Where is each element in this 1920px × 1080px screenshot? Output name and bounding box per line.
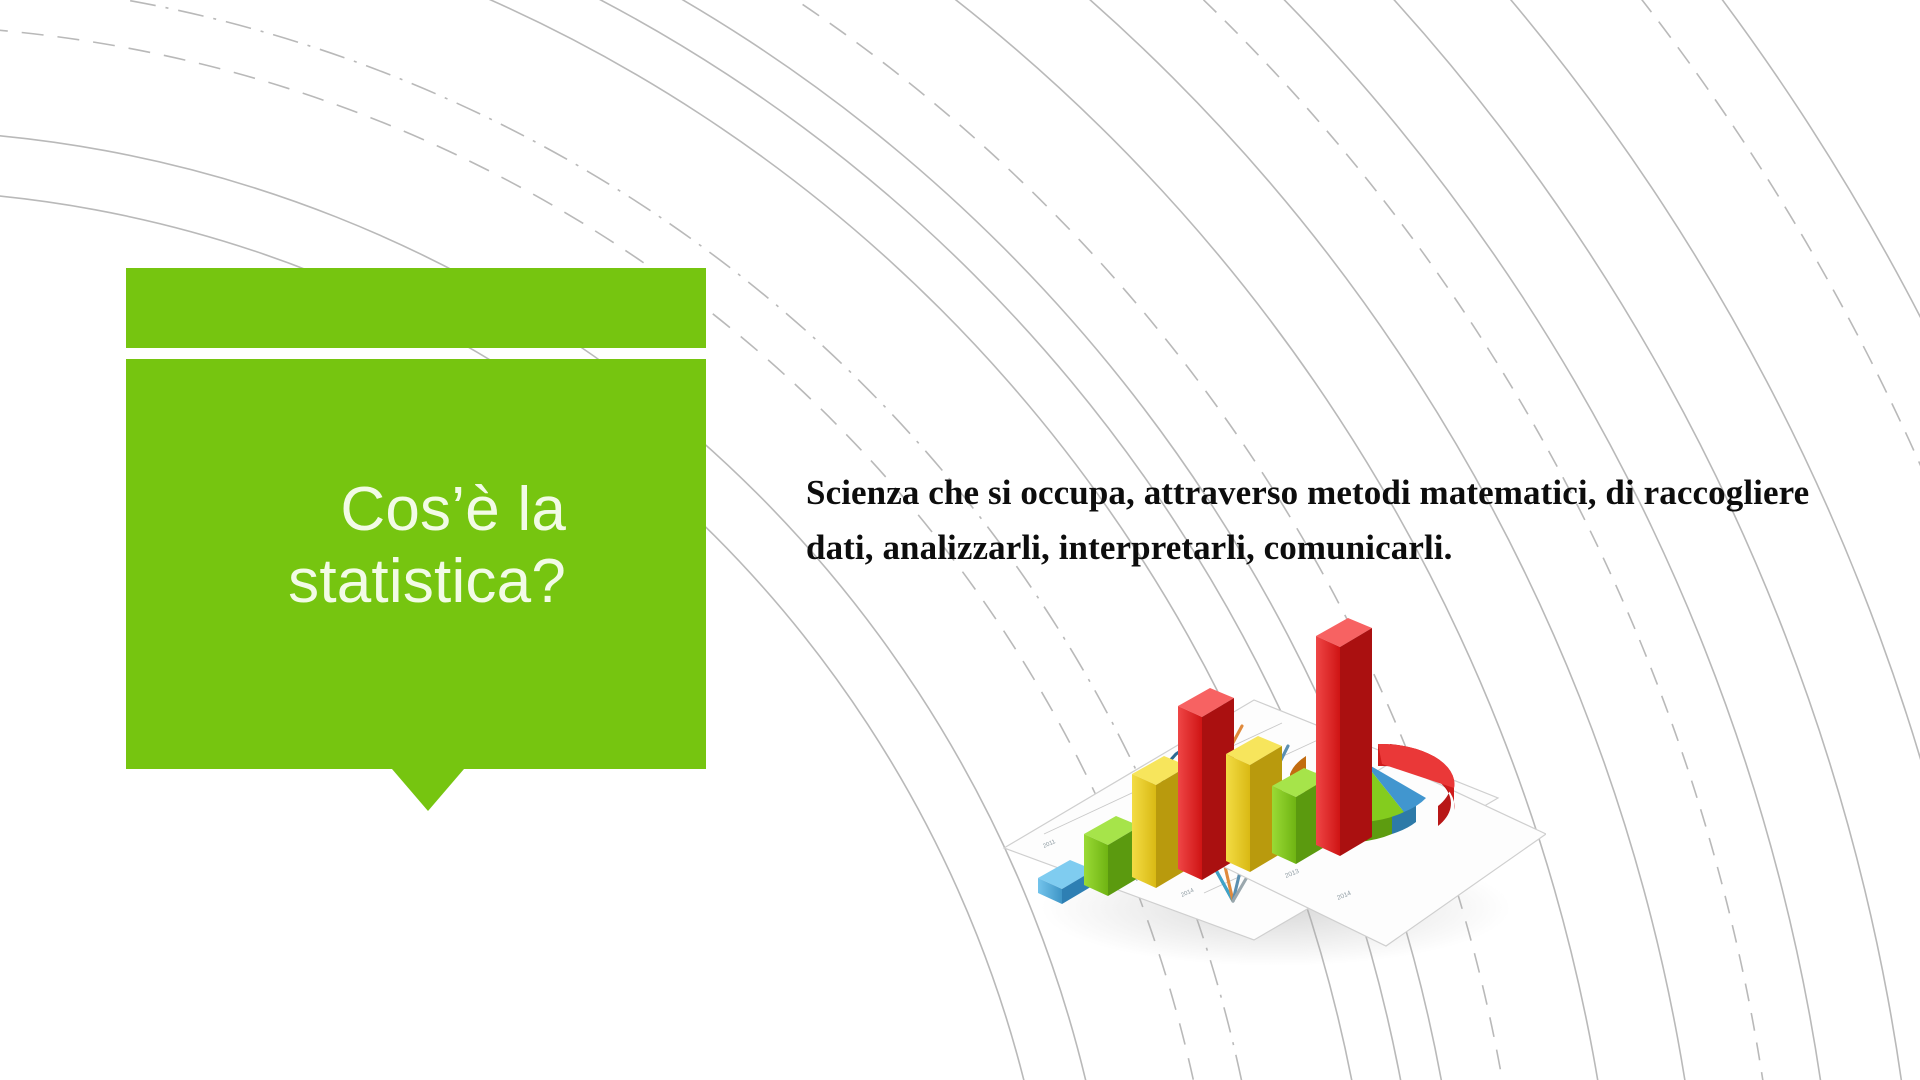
- title-bar-divider: [126, 348, 706, 359]
- title-body-panel: Cos’è la statistica?: [126, 359, 706, 769]
- statistics-illustration: 2011 2012 2013 2014 2013 2014: [986, 548, 1546, 978]
- bar-red-2: [1316, 618, 1372, 856]
- speech-bubble-tail-icon: [392, 769, 464, 811]
- title-callout: Cos’è la statistica?: [126, 268, 706, 769]
- title-accent-bar: [126, 268, 706, 348]
- bar-red-1: [1178, 688, 1234, 880]
- slide-root: Cos’è la statistica? Scienza che si occu…: [0, 0, 1920, 1080]
- page-title: Cos’è la statistica?: [288, 474, 566, 618]
